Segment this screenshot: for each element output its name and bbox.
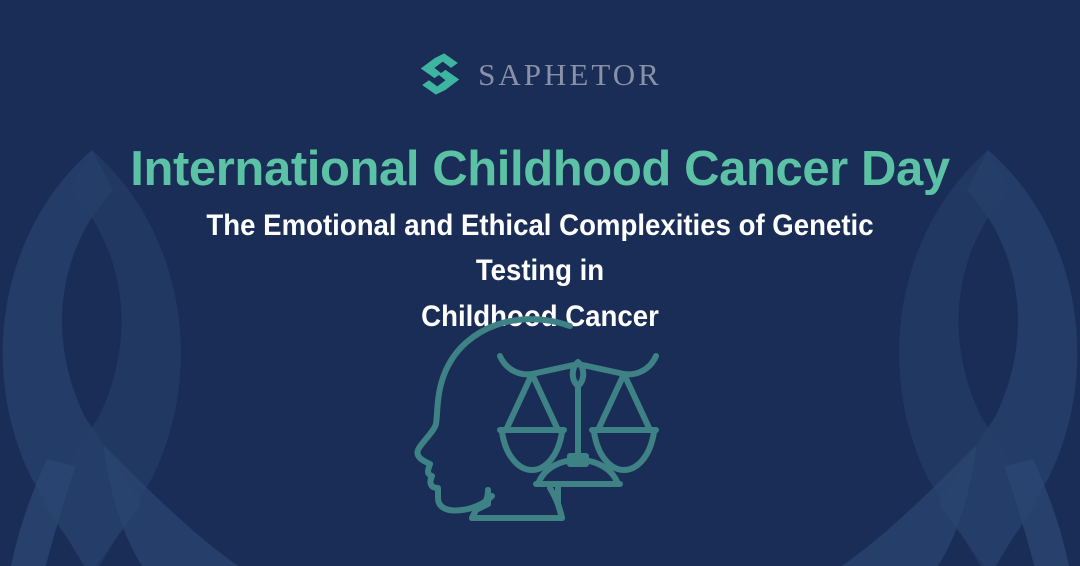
- page-title: International Childhood Cancer Day: [0, 142, 1080, 197]
- page-subtitle-line-1: The Emotional and Ethical Complexities o…: [163, 203, 917, 294]
- hero-illustration: [0, 312, 1080, 542]
- brand-wordmark: SAPHETOR: [478, 59, 662, 90]
- heading-block: International Childhood Cancer Day The E…: [0, 142, 1080, 340]
- brand-logo-lockup: SAPHETOR: [0, 52, 1080, 96]
- head-profile-with-balance-scales-icon: [410, 312, 670, 542]
- saphetor-s-logo-icon: [418, 52, 462, 96]
- international-childhood-cancer-day-banner: SAPHETOR International Childhood Cancer …: [0, 0, 1080, 566]
